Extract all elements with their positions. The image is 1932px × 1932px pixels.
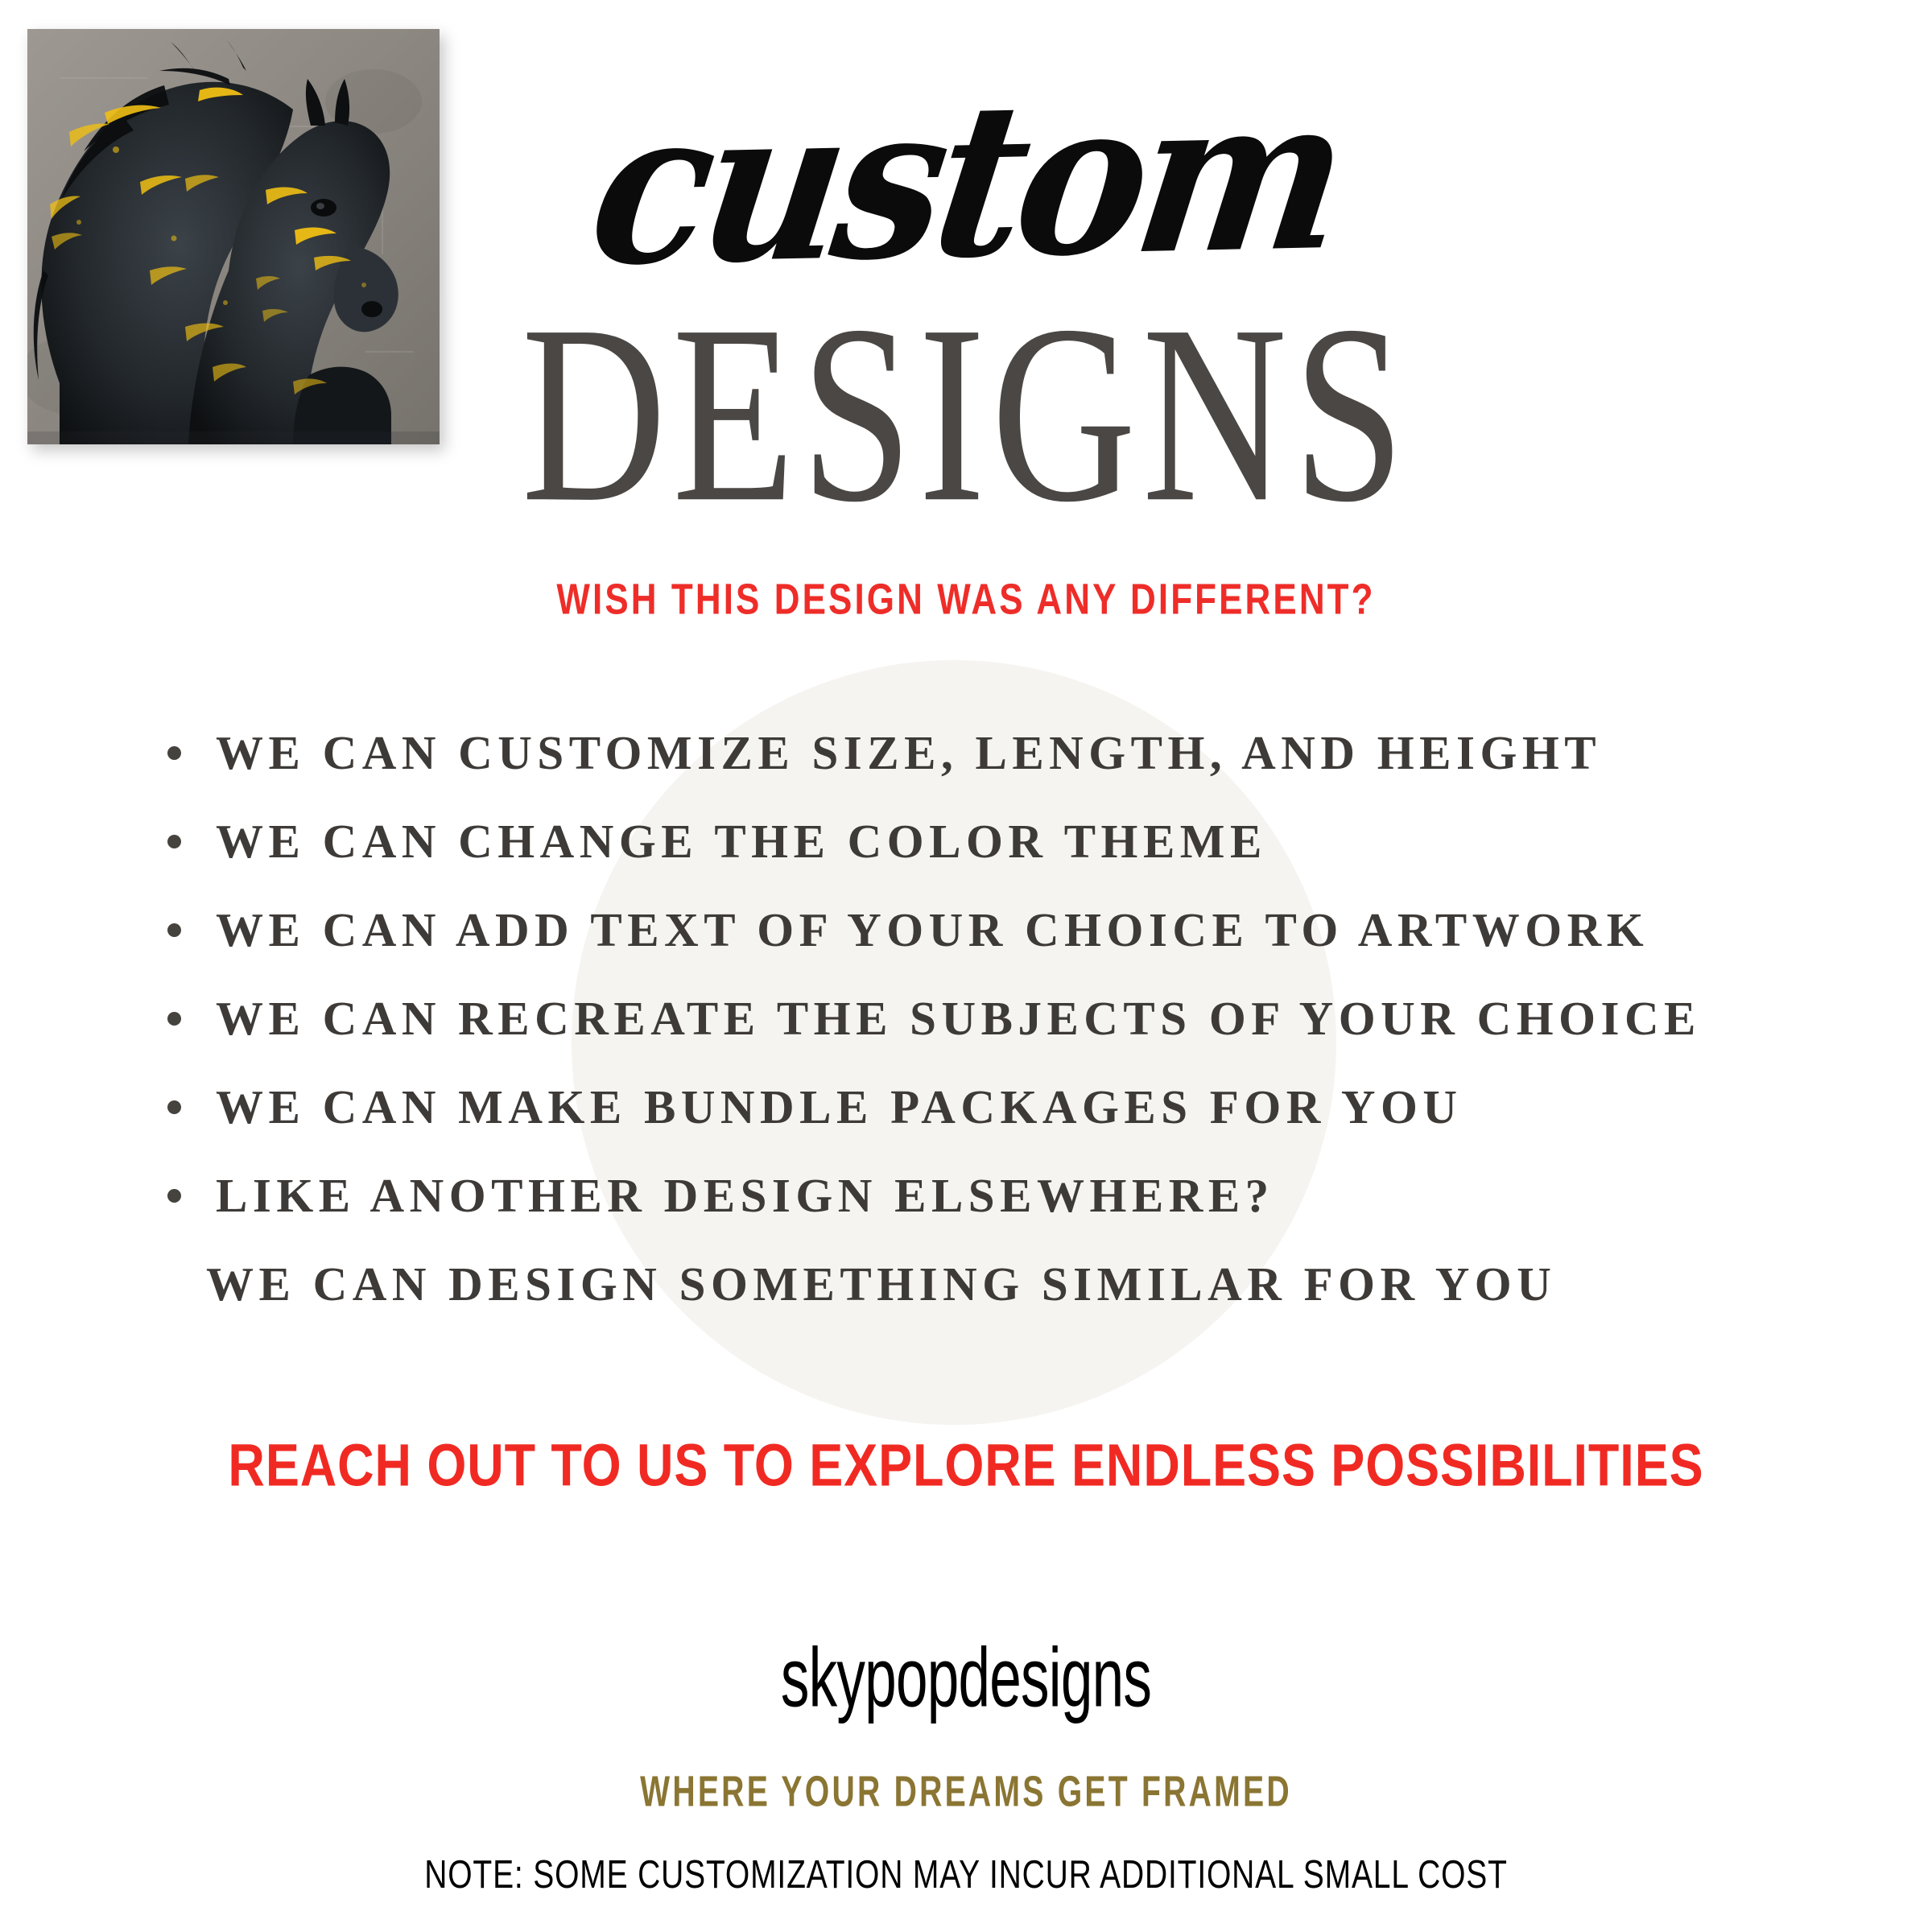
bullet-dot-icon xyxy=(167,1189,181,1203)
horse-painting-illustration xyxy=(27,29,440,444)
call-to-action-text: REACH OUT TO US TO EXPLORE ENDLESS POSSI… xyxy=(97,1431,1835,1500)
list-item-label: WE CAN CUSTOMIZE SIZE, LENGTH, AND HEIGH… xyxy=(167,725,1601,781)
list-item-label: WE CAN CHANGE THE COLOR THEME xyxy=(167,814,1267,869)
footer-note: NOTE: SOME CUSTOMIZATION MAY INCUR ADDIT… xyxy=(164,1851,1768,1897)
bullet-dot-icon xyxy=(167,1012,181,1026)
brand-tagline: WHERE YOUR DREAMS GET FRAMED xyxy=(193,1767,1739,1817)
list-item: WE CAN MAKE BUNDLE PACKAGES FOR YOU xyxy=(0,1063,1932,1151)
list-item: LIKE ANOTHER DESIGN ELSEWHERE? xyxy=(0,1151,1932,1240)
list-item: WE CAN RECREATE THE SUBJECTS OF YOUR CHO… xyxy=(0,974,1932,1063)
features-list: WE CAN CUSTOMIZE SIZE, LENGTH, AND HEIGH… xyxy=(0,708,1932,1328)
list-item-label: WE CAN MAKE BUNDLE PACKAGES FOR YOU xyxy=(167,1080,1463,1135)
artwork-thumbnail[interactable] xyxy=(27,29,440,444)
script-heading-text: custom xyxy=(580,68,1351,295)
list-item: WE CAN CUSTOMIZE SIZE, LENGTH, AND HEIGH… xyxy=(0,708,1932,797)
list-item: WE CAN CHANGE THE COLOR THEME xyxy=(0,797,1932,885)
list-item-label: WE CAN DESIGN SOMETHING SIMILAR FOR YOU xyxy=(167,1257,1556,1312)
subtitle-question: WISH THIS DESIGN WAS ANY DIFFERENT? xyxy=(116,574,1816,625)
list-item-continuation: WE CAN DESIGN SOMETHING SIMILAR FOR YOU xyxy=(0,1240,1932,1328)
list-item-label: WE CAN RECREATE THE SUBJECTS OF YOUR CHO… xyxy=(167,991,1701,1046)
list-item-label: LIKE ANOTHER DESIGN ELSEWHERE? xyxy=(167,1168,1274,1224)
list-item: WE CAN ADD TEXT OF YOUR CHOICE TO ARTWOR… xyxy=(0,885,1932,974)
bullet-dot-icon xyxy=(167,835,181,848)
bullet-dot-icon xyxy=(167,746,181,760)
brand-name: skypopdesigns xyxy=(251,1631,1681,1727)
bullet-dot-icon xyxy=(167,1100,181,1114)
list-item-label: WE CAN ADD TEXT OF YOUR CHOICE TO ARTWOR… xyxy=(167,902,1649,958)
bullet-dot-icon xyxy=(167,923,181,937)
